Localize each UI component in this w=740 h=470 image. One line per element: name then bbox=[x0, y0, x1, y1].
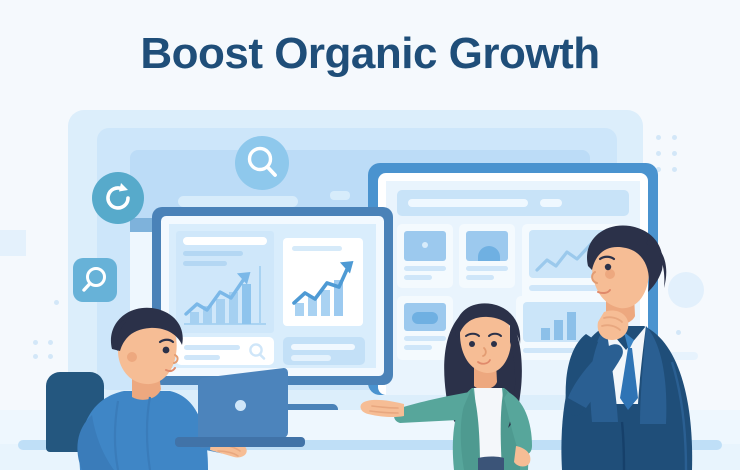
laptop-logo-icon bbox=[235, 400, 246, 411]
decor-dot bbox=[672, 151, 677, 156]
summary-text-line bbox=[291, 355, 331, 361]
card-text-line bbox=[404, 275, 432, 280]
decor-dot bbox=[656, 151, 661, 156]
card-text-line bbox=[466, 266, 508, 271]
analytics-panel-title bbox=[183, 237, 267, 245]
page-title: Boost Organic Growth bbox=[0, 30, 740, 78]
card-text-line bbox=[466, 275, 494, 280]
decor-dot bbox=[48, 354, 53, 359]
standing-man-in-suit bbox=[548, 222, 708, 470]
analytics-text-line bbox=[183, 251, 243, 256]
search-square-icon[interactable] bbox=[73, 258, 117, 302]
magnifier-glyph bbox=[235, 136, 289, 190]
screen-search-field[interactable] bbox=[408, 199, 528, 207]
monitor-right-bar-chart bbox=[289, 255, 359, 321]
background-accent-square bbox=[0, 230, 26, 256]
magnifier-glyph bbox=[73, 258, 117, 302]
background-chip bbox=[330, 191, 350, 200]
decor-dot bbox=[672, 167, 677, 172]
refresh-glyph bbox=[92, 172, 144, 224]
sun-dot-icon bbox=[422, 242, 428, 248]
decor-dot bbox=[33, 340, 38, 345]
dome-shape-icon bbox=[478, 246, 500, 261]
decor-dot bbox=[54, 300, 59, 305]
decor-dot bbox=[48, 340, 53, 345]
background-text-line bbox=[178, 196, 298, 207]
screen-header-button[interactable] bbox=[540, 199, 562, 207]
search-circle-icon[interactable] bbox=[235, 136, 289, 190]
decor-dot bbox=[656, 135, 661, 140]
standing-woman-presenter bbox=[358, 290, 573, 470]
illustration-canvas: Boost Organic Growth bbox=[0, 0, 740, 470]
summary-text-line bbox=[291, 344, 355, 350]
laptop-base bbox=[175, 437, 305, 447]
decor-dot bbox=[672, 135, 677, 140]
decor-dot bbox=[33, 354, 38, 359]
card-text-line bbox=[292, 246, 342, 251]
refresh-icon[interactable] bbox=[92, 172, 144, 224]
card-text-line bbox=[404, 266, 446, 271]
